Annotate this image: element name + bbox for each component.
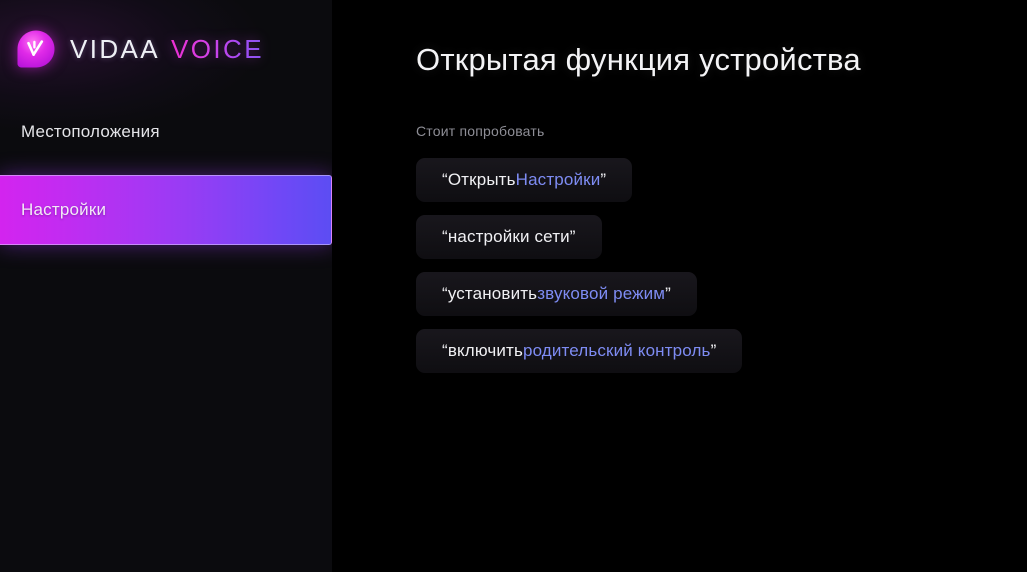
page-title: Открытая функция устройства: [416, 42, 861, 78]
chip-text-plain: настройки сети: [448, 227, 570, 247]
main-content: Открытая функция устройства Стоит попроб…: [332, 0, 1027, 572]
brand-logo: VIDAA VOICE: [16, 27, 264, 71]
suggestion-chip[interactable]: “включить родительский контроль”: [416, 329, 742, 373]
chip-text-accent: родительский контроль: [523, 341, 711, 361]
suggestion-chip[interactable]: “установить звуковой режим”: [416, 272, 697, 316]
brand-wordmark: VIDAA VOICE: [70, 36, 264, 62]
chip-text-plain: установить: [448, 284, 537, 304]
brand-name-primary: VIDAA: [70, 36, 160, 62]
chip-close-quote: ”: [570, 227, 576, 247]
brand-name-secondary: VOICE: [171, 36, 264, 62]
chip-close-quote: ”: [665, 284, 671, 304]
chip-text-accent: звуковой режим: [537, 284, 665, 304]
suggestion-chip[interactable]: “Открыть Настройки”: [416, 158, 632, 202]
sidebar: VIDAA VOICE Местоположения Настройки: [0, 0, 332, 572]
chip-text-plain: Открыть: [448, 170, 516, 190]
chip-text-plain: включить: [448, 341, 523, 361]
sidebar-item-locations[interactable]: Местоположения: [0, 108, 332, 155]
chip-close-quote: ”: [711, 341, 717, 361]
section-label-suggestions: Стоит попробовать: [416, 123, 544, 139]
chip-close-quote: ”: [600, 170, 606, 190]
vidaa-voice-logo-icon: [16, 29, 56, 69]
chip-text-accent: Настройки: [516, 170, 601, 190]
sidebar-item-settings[interactable]: Настройки: [0, 175, 332, 245]
suggestion-chip[interactable]: “настройки сети”: [416, 215, 602, 259]
sidebar-item-label: Настройки: [21, 200, 106, 220]
sidebar-item-label: Местоположения: [21, 122, 160, 142]
suggestion-chip-list: “Открыть Настройки” “настройки сети” “ус…: [416, 158, 742, 373]
sidebar-nav: Местоположения Настройки: [0, 108, 332, 245]
